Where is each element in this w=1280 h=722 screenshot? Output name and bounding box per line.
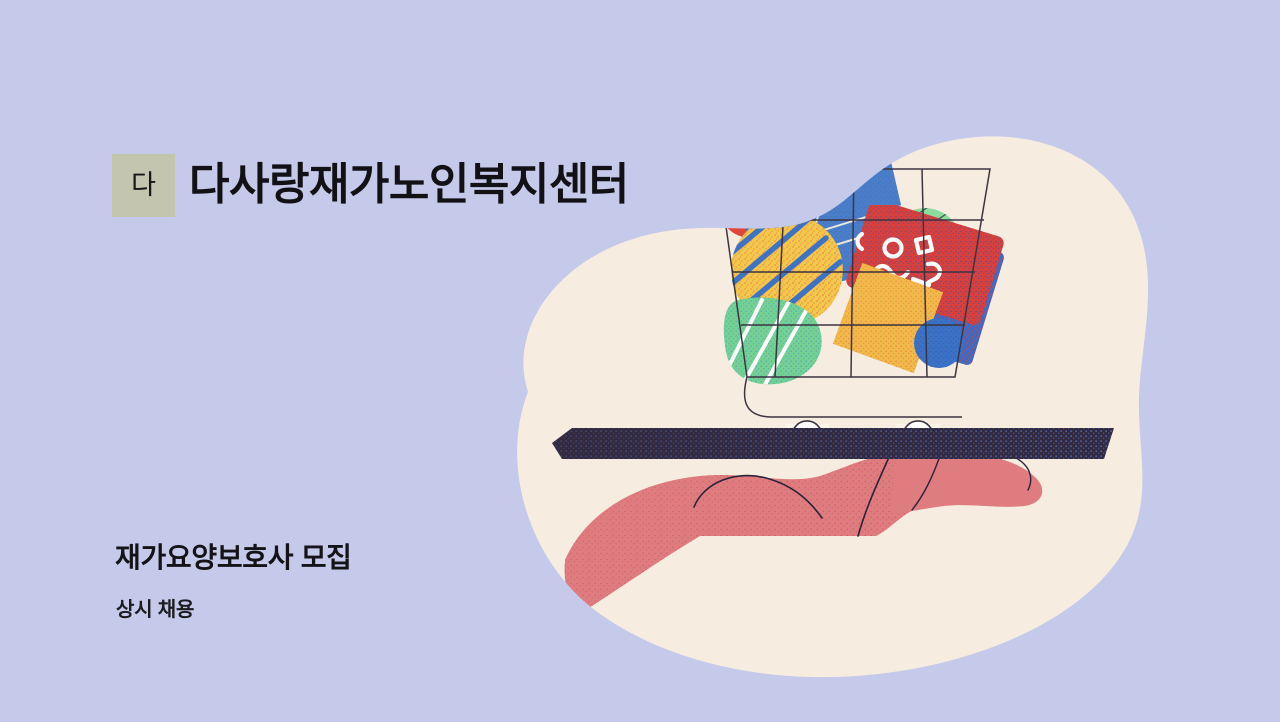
item-green-blob	[715, 285, 835, 395]
item-red-blob	[718, 164, 799, 238]
item-blue-speckled-rectangle	[845, 215, 1010, 375]
item-blue-teardrop	[744, 170, 822, 255]
hand	[565, 453, 1043, 609]
item-blue-speckled-square	[775, 148, 925, 300]
shopping-cart	[718, 169, 990, 417]
hiring-status: 상시 채용	[116, 593, 194, 622]
brand-logo-glyph: 다	[131, 172, 156, 199]
item-blue-circle	[914, 318, 964, 368]
job-headline: 재가요양보호사 모집	[115, 536, 352, 576]
decorative-string	[818, 126, 860, 200]
item-green-striped-circle	[886, 196, 966, 282]
company-name: 다사랑재가노인복지센터	[189, 162, 629, 208]
brand-header: 다 다사랑재가노인복지센터	[112, 133, 629, 238]
item-yellow-striped-circle	[718, 196, 843, 344]
shelf-bar	[552, 428, 1114, 459]
brand-logo: 다	[112, 154, 175, 217]
item-red-squiggle-rectangle	[845, 205, 1010, 325]
item-orange-square	[830, 262, 955, 387]
job-posting-poster: 다 다사랑재가노인복지센터 재가요양보호사 모집 상시 채용	[0, 0, 1280, 722]
cart-wheels	[785, 421, 940, 440]
